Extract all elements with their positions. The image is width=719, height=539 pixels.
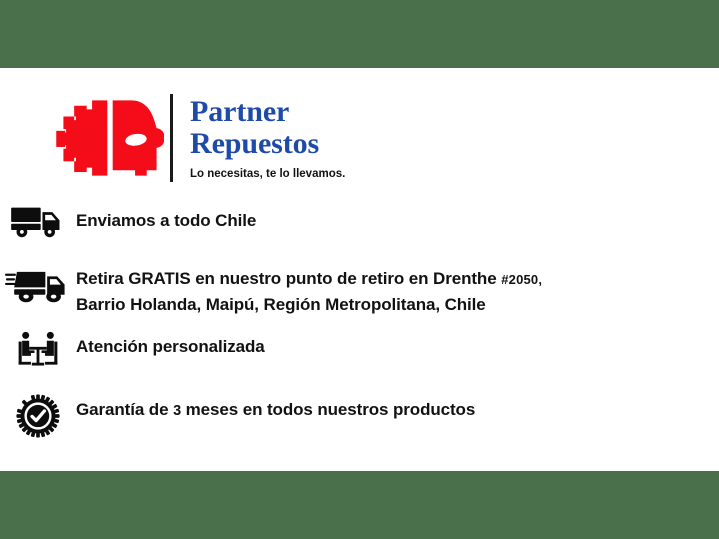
warranty-text-part2: meses en todos nuestros productos [181, 400, 475, 419]
feature-list: Enviamos a todo Chile [0, 203, 719, 444]
logo-divider [170, 94, 173, 182]
warranty-months-number: 3 [173, 403, 181, 419]
top-green-band [0, 0, 719, 68]
brand-name-line-2: Repuestos [190, 128, 345, 160]
gear-car-logo-icon [56, 95, 164, 181]
bottom-green-band [0, 471, 719, 539]
feature-row-shipping: Enviamos a todo Chile [0, 203, 719, 255]
feature-text-shipping: Enviamos a todo Chile [76, 203, 256, 233]
pickup-address-number: #2050, [501, 272, 542, 287]
feature-text-support: Atención personalizada [76, 329, 265, 359]
promotional-banner: Partner Repuestos Lo necesitas, te lo ll… [0, 0, 719, 539]
feature-text-warranty: Garantía de 3 meses en todos nuestros pr… [76, 392, 475, 423]
delivery-truck-icon [0, 203, 76, 239]
moving-truck-icon [0, 266, 76, 305]
brand-name-line-1: Partner [190, 96, 345, 128]
feature-row-pickup: Retira GRATIS en nuestro punto de retiro… [0, 266, 719, 318]
brand-tagline: Lo necesitas, te lo llevamos. [190, 167, 345, 182]
people-at-table-icon [0, 329, 76, 368]
check-badge-icon [0, 392, 76, 438]
feature-text-pickup: Retira GRATIS en nuestro punto de retiro… [76, 266, 542, 317]
brand-logo-block: Partner Repuestos Lo necesitas, te lo ll… [56, 94, 345, 182]
pickup-line-2: Barrio Holanda, Maipú, Región Metropolit… [76, 295, 486, 314]
content-area: Partner Repuestos Lo necesitas, te lo ll… [0, 68, 719, 471]
pickup-line-1-main: Retira GRATIS en nuestro punto de retiro… [76, 269, 501, 288]
feature-row-support: Atención personalizada [0, 329, 719, 381]
brand-wordmark: Partner Repuestos Lo necesitas, te lo ll… [190, 94, 345, 182]
feature-row-warranty: Garantía de 3 meses en todos nuestros pr… [0, 392, 719, 444]
warranty-text-part1: Garantía de [76, 400, 173, 419]
